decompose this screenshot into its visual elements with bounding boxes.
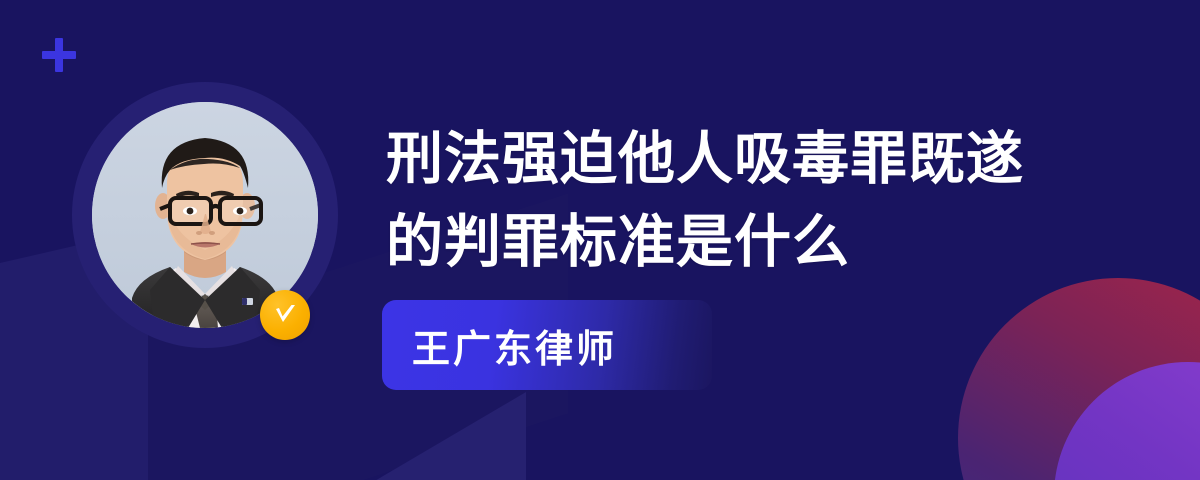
plus-icon bbox=[42, 38, 76, 72]
decorative-circle-inner bbox=[1054, 362, 1200, 480]
diagonal-shape-right bbox=[186, 392, 526, 480]
lawyer-article-banner: 刑法强迫他人吸毒罪既遂 的判罪标准是什么 王广东律师 bbox=[0, 0, 1200, 480]
decorative-circle-outer bbox=[958, 278, 1200, 480]
page-title: 刑法强迫他人吸毒罪既遂 的判罪标准是什么 bbox=[386, 118, 1106, 284]
headline-block: 刑法强迫他人吸毒罪既遂 的判罪标准是什么 bbox=[386, 118, 1106, 284]
verified-check-icon bbox=[260, 290, 310, 340]
avatar bbox=[72, 82, 338, 348]
author-name: 王广东律师 bbox=[412, 318, 617, 373]
author-name-badge[interactable]: 王广东律师 bbox=[382, 300, 712, 390]
